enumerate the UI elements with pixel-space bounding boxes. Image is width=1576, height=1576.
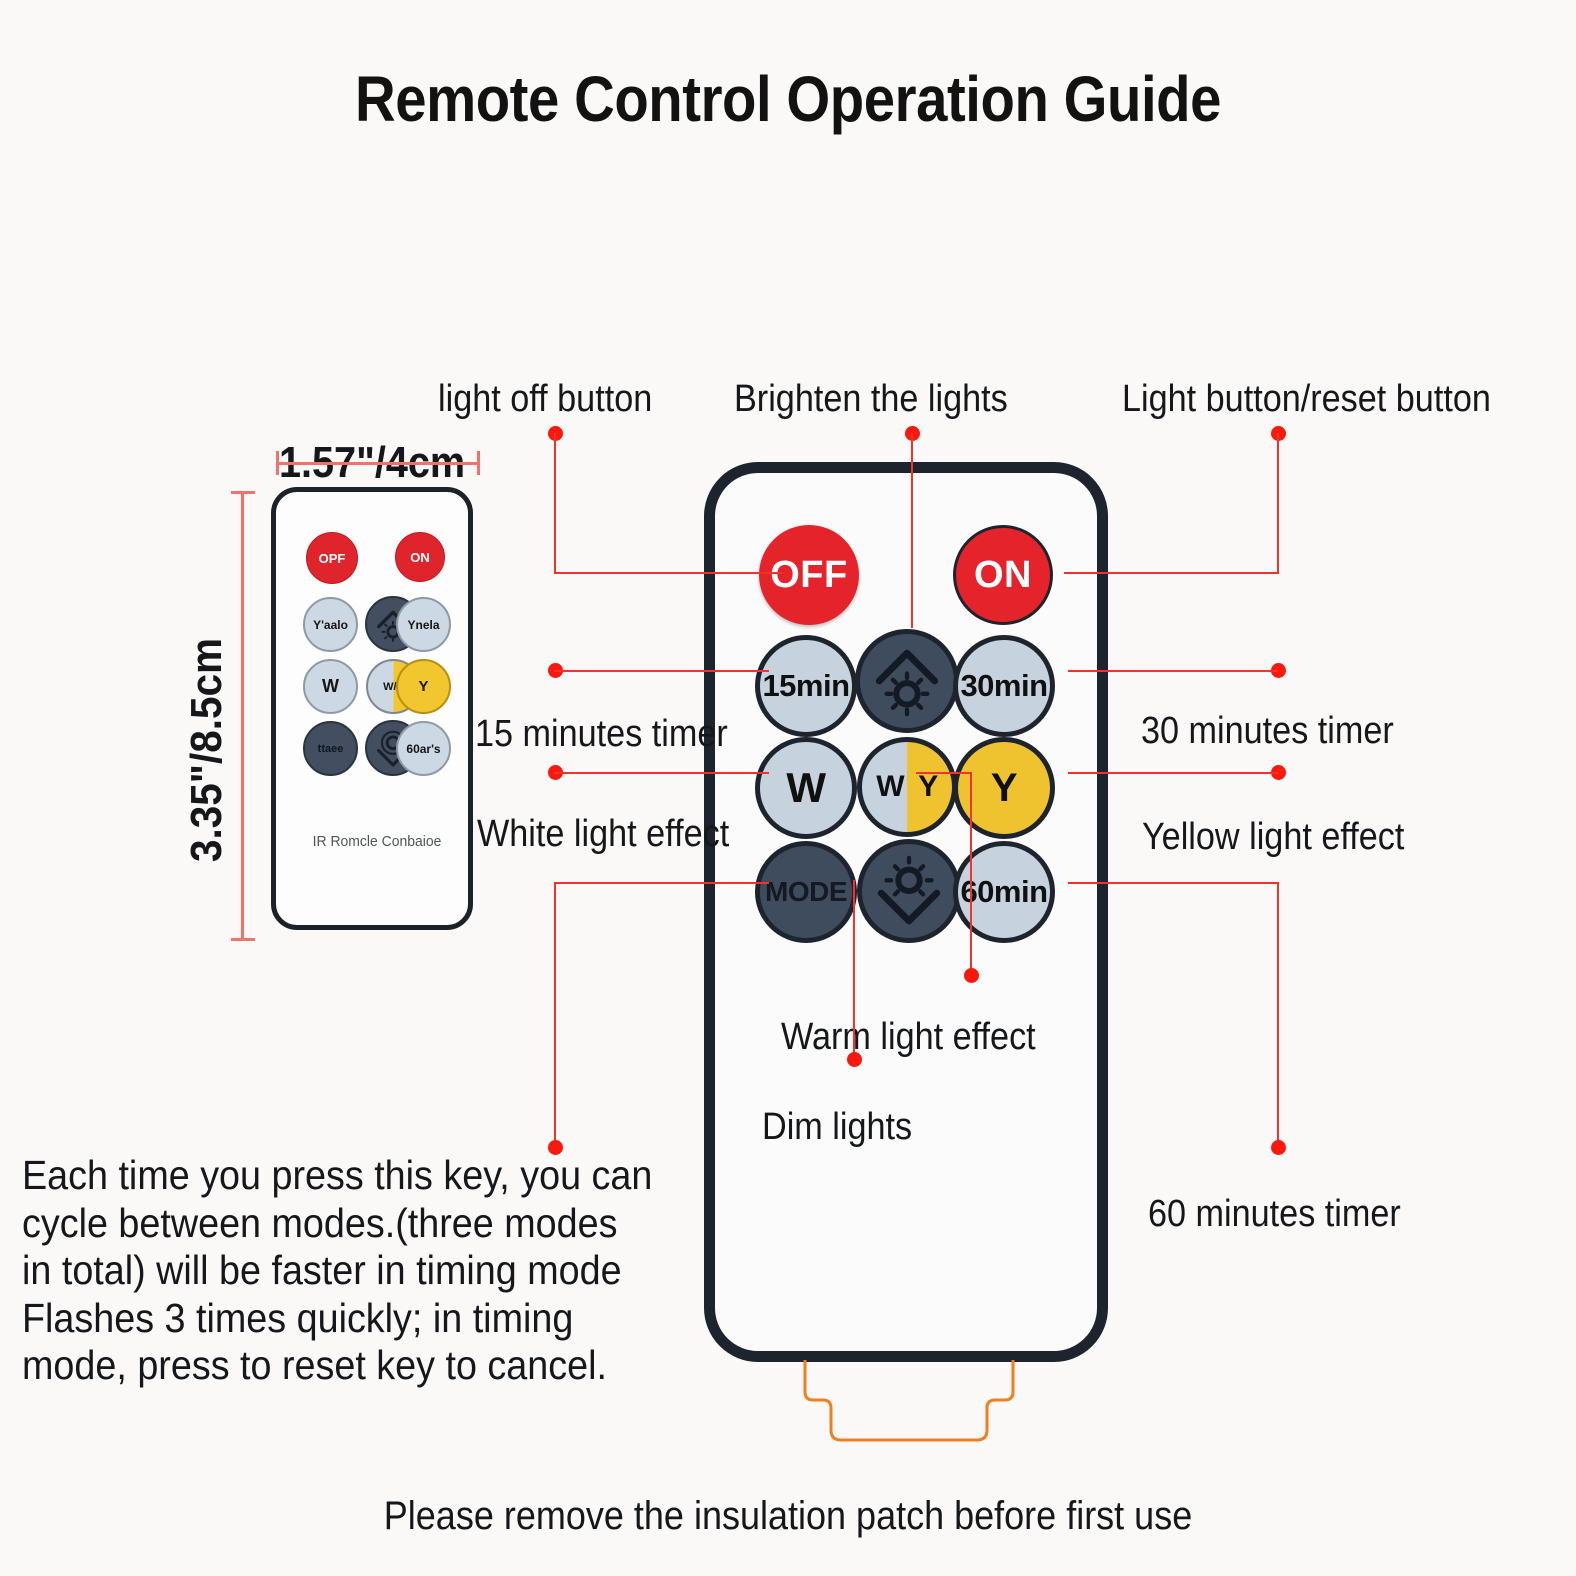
leader-line-mode-h <box>554 882 769 884</box>
mode-paragraph-line-1: Each time you press this key, you can <box>22 1152 666 1200</box>
dim-button[interactable] <box>857 839 961 943</box>
annotation-dim-lights: Dim lights <box>762 1108 912 1148</box>
timer-60min-button[interactable]: 60min <box>953 841 1055 943</box>
mode-paragraph-line-3: in total) will be faster in timing mode <box>22 1247 666 1295</box>
leader-line-warm-v <box>970 772 972 972</box>
dim-cap-bottom <box>231 938 255 941</box>
mini-timer60-button[interactable]: 60ar's <box>396 721 451 776</box>
dim-cap-right <box>477 451 480 475</box>
timer-30min-button[interactable]: 30min <box>953 635 1055 737</box>
leader-dot-warm <box>964 968 979 983</box>
leader-dot-dim <box>847 1052 862 1067</box>
annotation-brighten: Brighten the lights <box>734 380 1008 420</box>
leader-dot-timer60 <box>1271 1140 1286 1155</box>
remote-body: OFF ON 15min 30min W W <box>704 462 1108 1362</box>
leader-line-timer30 <box>1068 670 1278 672</box>
timer-15min-button[interactable]: 15min <box>755 635 857 737</box>
annotation-timer30: 30 minutes timer <box>1141 712 1394 752</box>
mini-timer30-button[interactable]: Ynela <box>396 597 451 652</box>
white-light-button[interactable]: W <box>755 737 857 839</box>
mini-white-button[interactable]: W <box>303 659 358 714</box>
dim-cap-top <box>231 491 255 494</box>
mini-off-button[interactable]: OPF <box>306 532 358 584</box>
mini-mode-button[interactable]: ttaee <box>303 721 358 776</box>
annotation-timer15: 15 minutes timer <box>475 715 728 755</box>
leader-line-brighten-v <box>911 433 913 628</box>
leader-line-warm-h <box>916 772 972 774</box>
annotation-yellow-light: Yellow light effect <box>1142 818 1404 858</box>
leader-line-light-off-v <box>554 433 556 573</box>
mini-height-label: 3.35"/8.5cm <box>184 638 230 862</box>
mini-on-button[interactable]: ON <box>395 532 445 582</box>
leader-line-light-reset-h <box>1064 572 1279 574</box>
leader-line-timer15 <box>554 670 769 672</box>
brighten-button[interactable] <box>855 629 959 733</box>
insulation-tab <box>801 1360 1017 1444</box>
dim-icon <box>862 844 956 938</box>
mini-timer15-button[interactable]: Y'aalo <box>303 597 358 652</box>
warm-label-y: Y <box>918 770 938 804</box>
mode-paragraph-line-2: cycle between modes.(three modes <box>22 1200 666 1248</box>
dim-cap-left <box>276 451 279 475</box>
leader-line-white <box>554 772 769 774</box>
mini-remote-body: OPF ON Y'aalo Ynela W W/Y Y ttaee <box>271 487 473 930</box>
warm-label-w: W <box>876 770 904 804</box>
warm-light-button[interactable]: W Y <box>857 737 957 837</box>
on-button[interactable]: ON <box>953 525 1053 625</box>
leader-line-timer60-v <box>1277 882 1279 1147</box>
page-title: Remote Control Operation Guide <box>95 62 1482 136</box>
annotation-light-off: light off button <box>438 380 652 420</box>
annotation-warm-light: Warm light effect <box>781 1018 1036 1058</box>
yellow-light-button[interactable]: Y <box>953 737 1055 839</box>
leader-line-timer60-h <box>1068 882 1278 884</box>
off-button[interactable]: OFF <box>759 525 859 625</box>
leader-line-light-reset-v <box>1277 433 1279 573</box>
mini-height-label-wrap: 3.35"/8.5cm <box>184 614 224 864</box>
leader-line-yellow <box>1068 772 1278 774</box>
brighten-icon <box>860 634 954 728</box>
bottom-note: Please remove the insulation patch befor… <box>79 1494 1497 1539</box>
dim-line-horizontal <box>276 462 480 465</box>
annotation-timer60: 60 minutes timer <box>1148 1195 1401 1235</box>
mode-paragraph-line-4: Flashes 3 times quickly; in timing <box>22 1295 666 1343</box>
mini-yellow-button[interactable]: Y <box>396 659 451 714</box>
leader-line-mode-v <box>554 882 556 1147</box>
leader-line-dim-v <box>853 880 855 1060</box>
dim-line-vertical <box>241 491 244 941</box>
mode-description-paragraph: Each time you press this key, you can cy… <box>22 1152 666 1390</box>
mini-brand-text: IR Romcle Conbaioe <box>283 833 471 850</box>
mode-paragraph-line-5: mode, press to reset key to cancel. <box>22 1342 666 1390</box>
annotation-light-reset: Light button/reset button <box>1122 380 1491 420</box>
mode-button[interactable]: MODE <box>755 841 857 943</box>
annotation-white-light: White light effect <box>477 815 729 855</box>
leader-line-light-off-h <box>554 572 782 574</box>
